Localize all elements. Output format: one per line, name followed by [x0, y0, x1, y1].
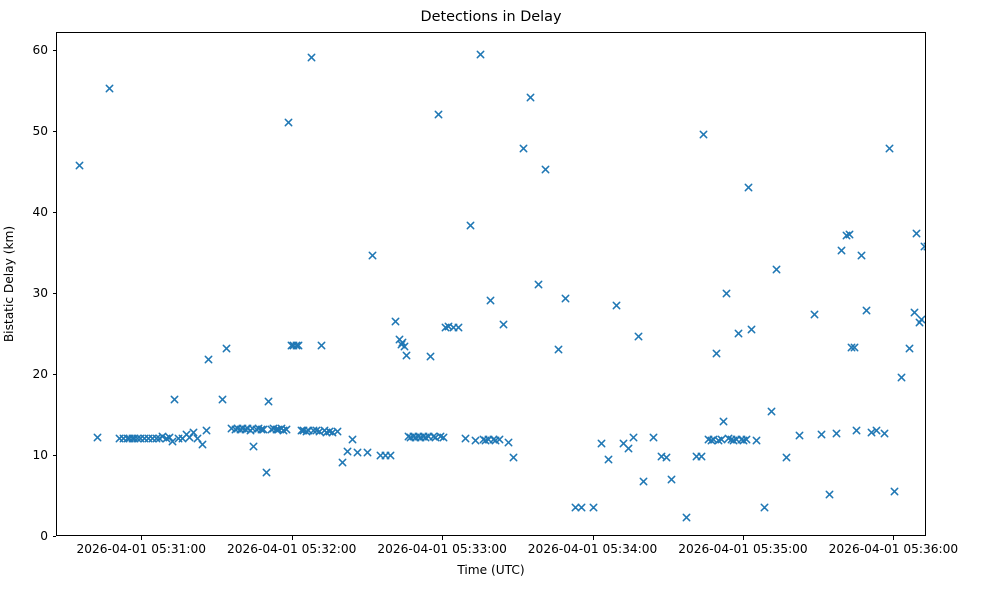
data-point-marker [732, 435, 741, 444]
data-point-marker [249, 442, 258, 451]
data-point-marker [231, 425, 240, 434]
data-point-marker [489, 435, 498, 444]
data-point-marker [842, 231, 851, 240]
data-point-marker [402, 351, 411, 360]
data-point-marker [259, 425, 268, 434]
y-tick-mark [53, 50, 57, 51]
y-tick-mark [53, 131, 57, 132]
data-point-marker [421, 433, 430, 442]
data-point-marker [136, 434, 145, 443]
data-point-marker [165, 433, 174, 442]
data-point-marker [486, 296, 495, 305]
data-point-marker [304, 426, 313, 435]
data-point-marker [338, 458, 347, 467]
data-point-marker [227, 424, 236, 433]
chart-title: Detections in Delay [56, 8, 926, 26]
data-point-marker [534, 280, 543, 289]
data-point-marker [657, 452, 666, 461]
data-point-marker [284, 118, 293, 127]
data-point-marker [277, 424, 286, 433]
data-point-marker [466, 221, 475, 230]
data-point-marker [257, 425, 266, 434]
data-point-marker [597, 439, 606, 448]
data-point-marker [561, 294, 570, 303]
data-point-marker [381, 451, 390, 460]
data-point-marker [386, 451, 395, 460]
y-tick-label: 40 [8, 205, 48, 219]
data-point-marker [353, 448, 362, 457]
data-point-marker [491, 436, 500, 445]
data-point-marker [297, 426, 306, 435]
data-point-marker [264, 397, 273, 406]
data-point-marker [292, 341, 301, 350]
data-point-marker [825, 490, 834, 499]
data-point-marker [105, 84, 114, 93]
data-point-marker [471, 436, 480, 445]
data-point-marker [739, 436, 748, 445]
data-point-marker [133, 434, 142, 443]
data-point-marker [910, 308, 919, 317]
data-point-marker [343, 447, 352, 456]
data-point-marker [885, 144, 894, 153]
data-point-marker [198, 440, 207, 449]
data-point-marker [174, 434, 183, 443]
data-point-marker [414, 432, 423, 441]
x-tick-label: 2026-04-01 05:36:00 [829, 542, 958, 556]
data-point-marker [897, 373, 906, 382]
data-point-marker [727, 435, 736, 444]
data-point-marker [880, 429, 889, 438]
data-point-marker [850, 343, 859, 352]
data-point-marker [299, 426, 308, 435]
x-axis-label: Time (UTC) [56, 563, 926, 577]
x-tick-mark [292, 536, 293, 540]
data-point-marker [302, 427, 311, 436]
data-point-marker [692, 452, 701, 461]
x-tick-mark [593, 536, 594, 540]
data-point-marker [519, 144, 528, 153]
data-point-marker [890, 487, 899, 496]
data-point-marker [123, 434, 132, 443]
data-point-marker [246, 426, 255, 435]
data-point-marker [837, 246, 846, 255]
data-point-marker [202, 426, 211, 435]
data-point-marker [667, 475, 676, 484]
y-axis-label-text: Bistatic Delay (km) [2, 226, 16, 342]
scatter-plot-area [57, 33, 925, 535]
data-point-marker [619, 439, 628, 448]
data-point-marker [729, 436, 738, 445]
data-point-marker [704, 435, 713, 444]
data-point-marker [391, 317, 400, 326]
data-point-marker [397, 340, 406, 349]
data-point-marker [734, 329, 743, 338]
data-point-marker [449, 323, 458, 332]
x-tick-mark [743, 536, 744, 540]
data-point-marker [424, 432, 433, 441]
data-point-marker [434, 110, 443, 119]
data-point-marker [282, 425, 291, 434]
data-point-marker [629, 433, 638, 442]
data-point-marker [662, 453, 671, 462]
data-point-marker [709, 435, 718, 444]
data-point-marker [269, 424, 278, 433]
data-point-marker [541, 165, 550, 174]
data-point-marker [744, 183, 753, 192]
data-point-marker [287, 341, 296, 350]
data-point-marker [162, 434, 171, 443]
data-point-marker [130, 434, 139, 443]
data-point-marker [289, 341, 298, 350]
data-point-marker [158, 432, 167, 441]
data-point-marker [481, 436, 490, 445]
data-point-marker [376, 451, 385, 460]
data-point-marker [236, 425, 245, 434]
x-tick-label: 2026-04-01 05:32:00 [227, 542, 356, 556]
data-point-marker [333, 427, 342, 436]
data-point-marker [426, 352, 435, 361]
data-point-marker [915, 318, 924, 327]
data-point-marker [272, 425, 281, 434]
data-point-marker [857, 251, 866, 260]
data-point-marker [832, 429, 841, 438]
data-point-marker [325, 427, 334, 436]
data-point-marker [920, 242, 925, 251]
data-point-marker [395, 335, 404, 344]
data-point-marker [252, 425, 261, 434]
data-point-marker [639, 477, 648, 486]
data-point-marker [509, 453, 518, 462]
y-tick-label: 0 [8, 529, 48, 543]
data-point-marker [699, 130, 708, 139]
data-point-marker [624, 444, 633, 453]
data-point-marker [398, 338, 407, 347]
data-point-marker [707, 436, 716, 445]
x-tick-label: 2026-04-01 05:33:00 [377, 542, 506, 556]
y-tick-mark [53, 374, 57, 375]
data-point-marker [872, 426, 881, 435]
data-point-marker [649, 433, 658, 442]
data-point-marker [923, 242, 926, 251]
plot-axes [56, 32, 926, 536]
data-point-marker [368, 251, 377, 260]
data-point-marker [168, 437, 177, 446]
y-tick-label: 10 [8, 448, 48, 462]
data-point-marker [119, 434, 128, 443]
data-point-marker [193, 434, 202, 443]
data-point-marker [722, 289, 731, 298]
data-point-marker [182, 430, 191, 439]
data-point-marker [404, 432, 413, 441]
data-point-marker [189, 428, 198, 437]
data-point-marker [747, 325, 756, 334]
data-point-marker [436, 432, 445, 441]
data-point-marker [499, 320, 508, 329]
data-point-marker [241, 425, 250, 434]
x-tick-label: 2026-04-01 05:34:00 [528, 542, 657, 556]
data-point-marker [222, 344, 231, 353]
y-tick-mark [53, 455, 57, 456]
y-tick-label: 30 [8, 286, 48, 300]
data-point-marker [75, 161, 84, 170]
data-point-marker [760, 503, 769, 512]
data-point-marker [795, 431, 804, 440]
data-point-marker [243, 424, 252, 433]
data-point-marker [767, 407, 776, 416]
data-point-marker [479, 435, 488, 444]
data-point-marker [238, 424, 247, 433]
data-point-marker [604, 455, 613, 464]
data-point-marker [400, 342, 409, 351]
data-point-marker [262, 468, 271, 477]
data-point-marker [810, 310, 819, 319]
data-point-marker [363, 448, 372, 457]
data-point-marker [416, 433, 425, 442]
data-point-marker [717, 435, 726, 444]
data-point-marker [697, 452, 706, 461]
data-point-marker [719, 417, 728, 426]
data-point-marker [782, 453, 791, 462]
data-point-marker [712, 349, 721, 358]
data-point-marker [772, 265, 781, 274]
data-point-marker [115, 434, 124, 443]
data-point-marker [204, 355, 213, 364]
x-tick-mark [442, 536, 443, 540]
data-point-marker [144, 434, 153, 443]
y-tick-label: 50 [8, 124, 48, 138]
data-point-marker [742, 435, 751, 444]
data-point-marker [905, 344, 914, 353]
data-point-marker [845, 230, 854, 239]
y-tick-mark [53, 536, 57, 537]
data-point-marker [484, 435, 493, 444]
data-point-marker [178, 434, 187, 443]
x-tick-label: 2026-04-01 05:31:00 [77, 542, 206, 556]
data-point-marker [328, 428, 337, 437]
data-point-marker [852, 426, 861, 435]
data-point-marker [441, 323, 450, 332]
data-point-marker [406, 433, 415, 442]
data-point-marker [476, 50, 485, 59]
data-point-marker [444, 322, 453, 331]
data-point-marker [411, 433, 420, 442]
data-point-marker [307, 53, 316, 62]
data-point-marker [439, 433, 448, 442]
data-point-marker [267, 425, 276, 434]
data-point-marker [140, 434, 149, 443]
y-tick-label: 20 [8, 367, 48, 381]
data-point-marker [454, 323, 463, 332]
data-point-marker [724, 434, 733, 443]
data-point-marker [917, 315, 925, 324]
data-point-marker [274, 425, 283, 434]
data-point-marker [93, 433, 102, 442]
data-point-marker [817, 430, 826, 439]
data-point-marker [317, 341, 326, 350]
data-point-marker [309, 426, 318, 435]
data-point-marker [348, 435, 357, 444]
data-point-marker [526, 93, 535, 102]
data-point-marker [504, 438, 513, 447]
data-point-marker [682, 513, 691, 522]
data-point-marker [634, 332, 643, 341]
data-point-marker [862, 306, 871, 315]
data-point-marker [847, 343, 856, 352]
data-point-marker [125, 434, 134, 443]
data-point-marker [148, 434, 157, 443]
data-point-marker [294, 341, 303, 350]
data-point-marker [867, 428, 876, 437]
data-point-marker [185, 433, 194, 442]
data-point-marker [571, 503, 580, 512]
data-point-marker [152, 434, 161, 443]
y-tick-mark [53, 212, 57, 213]
data-point-marker [218, 395, 227, 404]
y-tick-label: 60 [8, 43, 48, 57]
data-point-marker [128, 434, 137, 443]
y-tick-mark [53, 293, 57, 294]
data-point-marker [577, 503, 586, 512]
data-point-marker [612, 301, 621, 310]
data-point-marker [589, 503, 598, 512]
data-point-marker [495, 435, 504, 444]
x-tick-label: 2026-04-01 05:35:00 [678, 542, 807, 556]
data-point-marker [737, 435, 746, 444]
data-point-marker [431, 433, 440, 442]
data-point-marker [155, 434, 164, 443]
data-point-marker [429, 432, 438, 441]
data-point-marker [322, 428, 331, 437]
data-point-marker [714, 436, 723, 445]
data-point-marker [409, 432, 418, 441]
data-point-marker [461, 434, 470, 443]
data-point-marker [170, 395, 179, 404]
data-point-marker [233, 424, 242, 433]
data-point-marker [279, 426, 288, 435]
x-tick-mark [141, 536, 142, 540]
data-point-marker [248, 424, 257, 433]
data-point-marker [554, 345, 563, 354]
data-point-marker [752, 436, 761, 445]
data-point-marker [419, 432, 428, 441]
data-point-marker [315, 427, 324, 436]
data-point-marker [312, 426, 321, 435]
data-point-marker [320, 426, 329, 435]
data-point-marker [912, 229, 921, 238]
x-tick-mark [893, 536, 894, 540]
data-point-marker [254, 424, 263, 433]
figure-canvas: Detections in Delay Bistatic Delay (km) … [0, 0, 987, 590]
